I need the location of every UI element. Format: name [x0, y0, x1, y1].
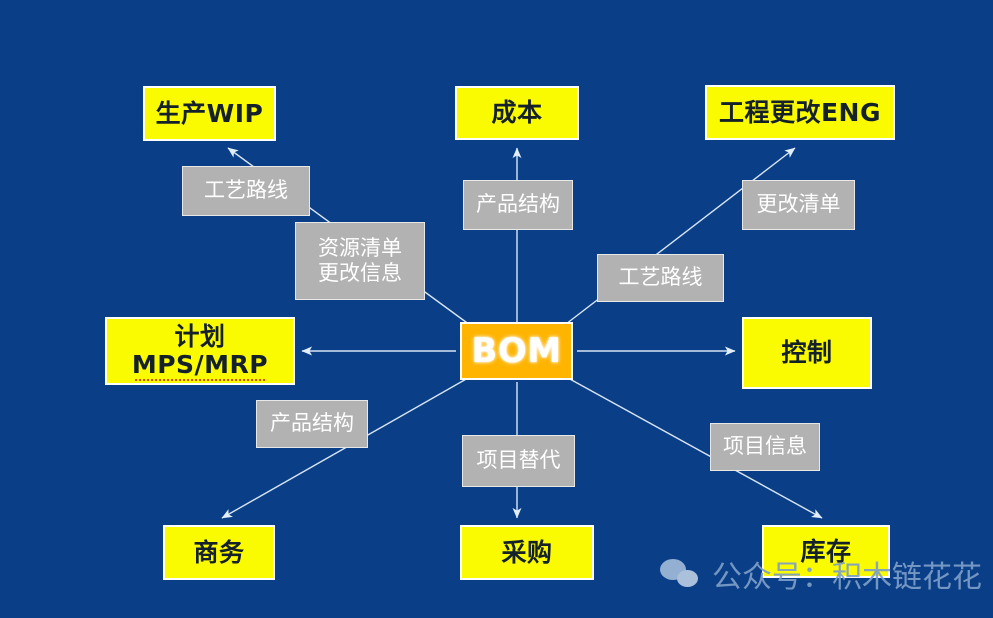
- edge-label-process-route-eng: 工艺路线: [597, 254, 724, 302]
- node-plan[interactable]: 计划 MPS/MRP: [105, 317, 295, 385]
- node-engineering-change[interactable]: 工程更改ENG: [705, 85, 895, 140]
- node-wip-label: 生产WIP: [156, 100, 264, 128]
- node-wip[interactable]: 生产WIP: [143, 86, 276, 141]
- node-plan-sublabel: MPS/MRP: [132, 351, 268, 379]
- edge-label-process-route-wip: 工艺路线: [182, 166, 310, 216]
- edge-label-product-structure-cost: 产品结构: [463, 180, 573, 230]
- edge-label-item-info-text: 项目信息: [723, 434, 807, 459]
- edge-label-process-route-wip-text: 工艺路线: [204, 178, 288, 203]
- watermark: 公众号：积木链花花: [660, 552, 982, 596]
- watermark-text: 公众号：积木链花花: [712, 552, 982, 596]
- node-cost[interactable]: 成本: [455, 86, 579, 140]
- node-purchase-label: 采购: [501, 539, 552, 567]
- edge-label-resource-list: 资源清单 更改信息: [295, 222, 425, 300]
- node-engineering-change-label: 工程更改ENG: [719, 99, 881, 127]
- edge-label-resource-list-text: 资源清单: [318, 236, 402, 261]
- edge-label-change-list: 更改清单: [742, 180, 855, 230]
- node-control[interactable]: 控制: [742, 317, 872, 389]
- edge-label-item-info: 项目信息: [710, 423, 820, 471]
- node-cost-label: 成本: [491, 99, 542, 127]
- node-purchase[interactable]: 采购: [460, 525, 594, 580]
- edge-label-change-list-text: 更改清单: [757, 192, 841, 217]
- edge-label-change-info-text: 更改信息: [318, 261, 402, 286]
- node-bom-center-label: BOM: [471, 332, 561, 370]
- edge-label-item-substitute-text: 项目替代: [477, 448, 561, 473]
- edge-label-process-route-eng-text: 工艺路线: [619, 265, 703, 290]
- edge-bom-to-business: [222, 378, 468, 518]
- wechat-icon: [660, 559, 702, 589]
- node-business-label: 商务: [193, 539, 244, 567]
- node-control-label: 控制: [781, 339, 832, 367]
- diagram-canvas: 生产WIP 成本 工程更改ENG 计划 MPS/MRP 控制 商务 采购 库存 …: [0, 0, 993, 618]
- node-bom-center[interactable]: BOM: [460, 322, 573, 380]
- edge-label-product-structure-business-text: 产品结构: [270, 411, 354, 436]
- edge-label-product-structure-cost-text: 产品结构: [476, 192, 560, 217]
- edge-label-item-substitute: 项目替代: [462, 435, 575, 487]
- node-plan-label: 计划: [174, 323, 225, 351]
- node-business[interactable]: 商务: [163, 525, 275, 580]
- edge-label-product-structure-business: 产品结构: [256, 400, 368, 448]
